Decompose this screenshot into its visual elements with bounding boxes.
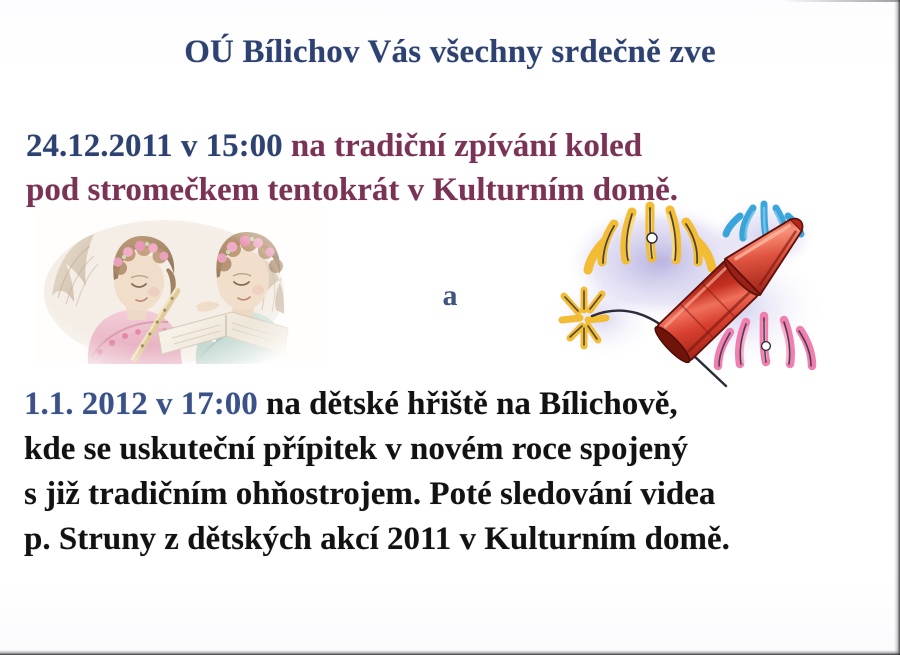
- newyear-line-1: 1.1. 2012 v 17:00 na dětské hřiště na Bí…: [24, 382, 874, 427]
- scan-edge-right: [894, 0, 900, 655]
- newyear-line-2: kde se uskuteční přípitek v novém roce s…: [24, 427, 874, 472]
- poster-page: OÚ Bílichov Vás všechny srdečně zve 24.1…: [0, 0, 900, 655]
- newyear-event-block: 1.1. 2012 v 17:00 na dětské hřiště na Bí…: [24, 382, 874, 562]
- page-title: OÚ Bílichov Vás všechny srdečně zve: [0, 34, 900, 71]
- conjunction-a: a: [0, 279, 900, 313]
- christmas-event-block: 24.12.2011 v 15:00 na tradiční zpívání k…: [26, 124, 874, 212]
- christmas-line-2: pod stromečkem tentokrát v Kulturním dom…: [26, 168, 874, 212]
- christmas-line-1-rest: na tradiční zpívání koled: [291, 128, 642, 164]
- newyear-line-3: s již tradičním ohňostrojem. Poté sledov…: [24, 472, 874, 517]
- scan-edge-top: [780, 0, 900, 2]
- newyear-line-4: p. Struny z dětských akcí 2011 v Kulturn…: [24, 517, 874, 562]
- christmas-datetime: 24.12.2011 v 15:00: [26, 128, 283, 164]
- newyear-datetime: 1.1. 2012 v 17:00: [24, 386, 258, 422]
- christmas-line-1: 24.12.2011 v 15:00 na tradiční zpívání k…: [26, 124, 874, 168]
- newyear-line-1-rest: na dětské hřiště na Bílichově,: [266, 386, 678, 422]
- scan-edge-bottom: [0, 650, 900, 655]
